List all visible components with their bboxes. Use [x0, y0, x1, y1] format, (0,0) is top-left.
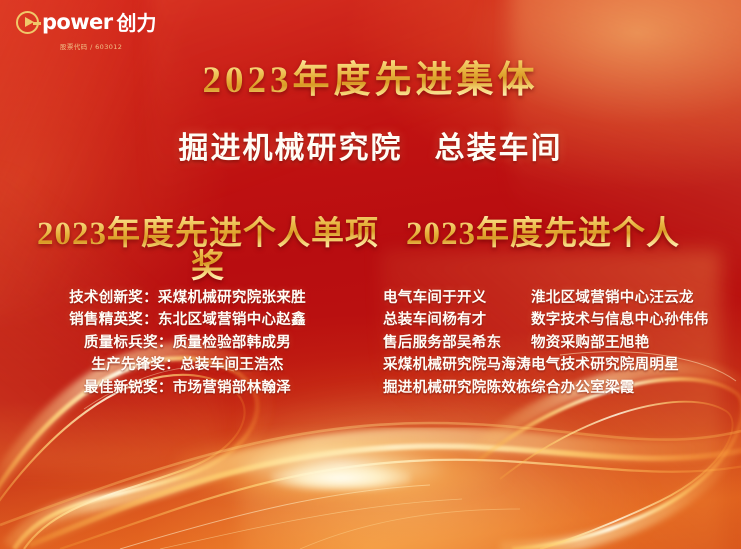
- award-poster: power 创力 股票代码 / 603012 2023年度先进集体 掘进机械研究…: [0, 0, 741, 549]
- poster-content: 2023年度先进集体 掘进机械研究院 总装车间 2023年度先进个人单项奖 20…: [0, 0, 741, 549]
- list-item-col1: 电气车间于开义: [383, 287, 531, 309]
- list-item-col1: 掘进机械研究院陈效栋: [383, 377, 531, 399]
- page-title: 2023年度先进集体: [0, 62, 741, 99]
- list-item: 质量标兵奖：质量检验部韩成男: [0, 332, 375, 354]
- list-item: 总装车间杨有才 数字技术与信息中心孙伟伟: [383, 309, 741, 331]
- list-item: 生产先锋奖：总装车间王浩杰: [0, 354, 375, 376]
- list-item: 销售精英奖：东北区域营销中心赵鑫: [0, 309, 375, 331]
- list-item-col1: 总装车间杨有才: [383, 309, 531, 331]
- list-item-col2: 综合办公室梁霞: [531, 377, 635, 399]
- award-list-special: 技术创新奖：采煤机械研究院张来胜 销售精英奖：东北区域营销中心赵鑫 质量标兵奖：…: [0, 287, 375, 399]
- list-item: 技术创新奖：采煤机械研究院张来胜: [0, 287, 375, 309]
- list-item: 最佳新锐奖：市场营销部林翰泽: [0, 377, 375, 399]
- list-item-col1: 采煤机械研究院马海涛: [383, 354, 531, 376]
- list-item: 售后服务部吴希东 物资采购部王旭艳: [383, 332, 741, 354]
- list-item-col2: 电气技术研究院周明星: [531, 354, 679, 376]
- award-list-individuals: 电气车间于开义 淮北区域营销中心汪云龙 总装车间杨有才 数字技术与信息中心孙伟伟…: [383, 287, 741, 399]
- section-heading-individual-special-award: 2023年度先进个人单项奖: [22, 218, 394, 284]
- list-item-col2: 淮北区域营销中心汪云龙: [531, 287, 694, 309]
- section-heading-advanced-individual: 2023年度先进个人: [398, 218, 688, 251]
- list-item-col1: 售后服务部吴希东: [383, 332, 531, 354]
- list-item: 电气车间于开义 淮北区域营销中心汪云龙: [383, 287, 741, 309]
- list-item: 掘进机械研究院陈效栋 综合办公室梁霞: [383, 377, 741, 399]
- list-item-col2: 数字技术与信息中心孙伟伟: [531, 309, 709, 331]
- list-item: 采煤机械研究院马海涛 电气技术研究院周明星: [383, 354, 741, 376]
- list-item-col2: 物资采购部王旭艳: [531, 332, 649, 354]
- page-subtitle: 掘进机械研究院 总装车间: [0, 134, 741, 164]
